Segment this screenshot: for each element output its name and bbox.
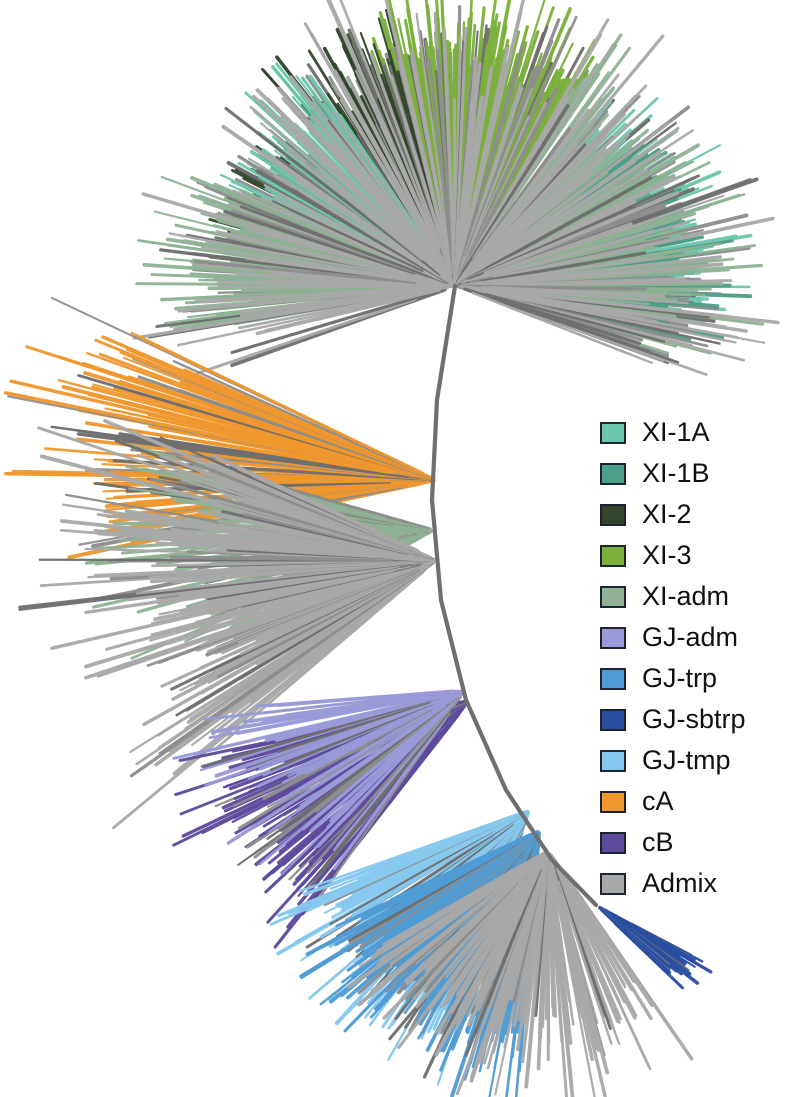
- legend-color-swatch: [600, 668, 626, 690]
- legend-item: Admix: [600, 863, 797, 904]
- legend-item: XI-1A: [600, 412, 797, 453]
- legend-item: cB: [600, 822, 797, 863]
- legend-item-label: GJ-tmp: [642, 747, 731, 774]
- legend-color-swatch: [600, 545, 626, 567]
- legend-color-swatch: [600, 463, 626, 485]
- legend-item: XI-2: [600, 494, 797, 535]
- legend-color-swatch: [600, 750, 626, 772]
- legend-item-label: GJ-sbtrp: [642, 706, 746, 733]
- legend-color-swatch: [600, 791, 626, 813]
- legend-item-label: XI-2: [642, 501, 692, 528]
- legend-item: XI-1B: [600, 453, 797, 494]
- legend-color-swatch: [600, 504, 626, 526]
- legend-item-label: cA: [642, 788, 674, 815]
- legend-item-label: XI-1B: [642, 460, 710, 487]
- legend-item-label: GJ-adm: [642, 624, 738, 651]
- legend-item-label: XI-1A: [642, 419, 710, 446]
- legend-item-label: GJ-trp: [642, 665, 717, 692]
- legend-item: GJ-adm: [600, 617, 797, 658]
- legend-item: XI-3: [600, 535, 797, 576]
- legend-item-label: Admix: [642, 870, 717, 897]
- legend-item: GJ-sbtrp: [600, 699, 797, 740]
- legend-item-label: cB: [642, 829, 674, 856]
- legend-color-swatch: [600, 709, 626, 731]
- legend-color-swatch: [600, 422, 626, 444]
- legend-color-swatch: [600, 586, 626, 608]
- legend: XI-1AXI-1BXI-2XI-3XI-admGJ-admGJ-trpGJ-s…: [600, 412, 797, 904]
- legend-color-swatch: [600, 832, 626, 854]
- legend-color-swatch: [600, 627, 626, 649]
- legend-color-swatch: [600, 873, 626, 895]
- legend-item: GJ-trp: [600, 658, 797, 699]
- legend-item: XI-adm: [600, 576, 797, 617]
- phylogenetic-tree-figure: XI-1AXI-1BXI-2XI-3XI-admGJ-admGJ-trpGJ-s…: [0, 0, 797, 1097]
- legend-item: cA: [600, 781, 797, 822]
- legend-item: GJ-tmp: [600, 740, 797, 781]
- legend-item-label: XI-3: [642, 542, 692, 569]
- legend-item-label: XI-adm: [642, 583, 729, 610]
